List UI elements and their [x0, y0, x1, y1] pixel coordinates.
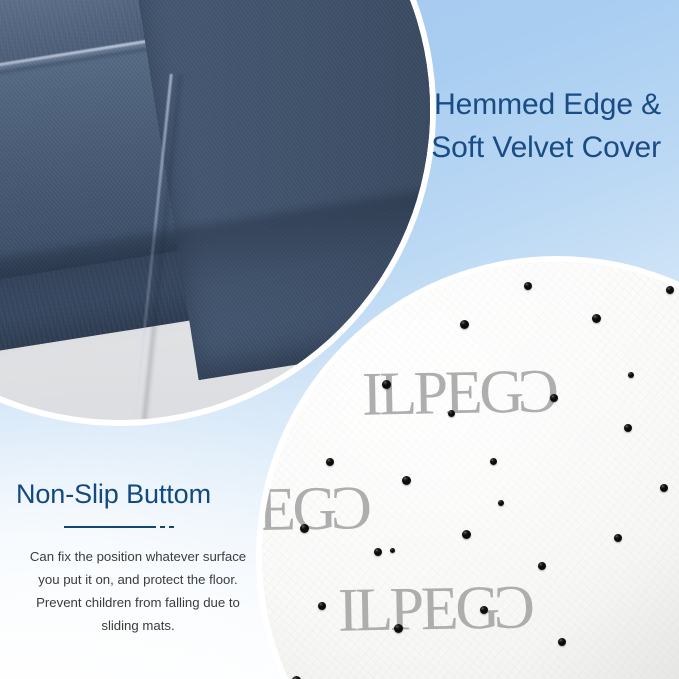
brand-watermark-top: ILPEGC — [361, 356, 559, 430]
feature-block: Non-Slip Buttom Can fix the position wha… — [12, 478, 264, 637]
anti-slip-dot — [660, 484, 668, 492]
anti-slip-dot — [460, 320, 469, 329]
infographic-canvas: ILPEGC EGC ILPEGC Hemmed Edge & Soft Vel… — [0, 0, 679, 679]
anti-slip-dot — [402, 476, 411, 485]
anti-slip-dot — [498, 500, 504, 506]
feature-body-line: Can fix the position whatever surface — [18, 546, 258, 569]
anti-slip-dot — [326, 458, 334, 466]
feature-title: Non-Slip Buttom — [12, 478, 264, 510]
anti-slip-dot — [390, 548, 395, 553]
anti-slip-dot — [628, 372, 634, 378]
feature-body-line: sliding mats. — [18, 615, 258, 638]
mat-photo-circle: ILPEGC EGC ILPEGC — [262, 262, 679, 679]
feature-body-line: you put it on, and protect the floor. — [18, 569, 258, 592]
mat-photo: ILPEGC EGC ILPEGC — [262, 262, 679, 679]
divider-rule — [64, 526, 156, 528]
anti-slip-dot — [666, 286, 674, 294]
anti-slip-dot — [480, 606, 488, 614]
anti-slip-dot — [524, 282, 532, 290]
headline-line-1: Hemmed Edge & — [431, 84, 661, 127]
divider-tick-2 — [169, 526, 174, 528]
brand-watermark-bottom: ILPEGC — [337, 572, 535, 646]
feature-body-line: Prevent children from falling due to — [18, 592, 258, 615]
feature-body: Can fix the position whatever surface yo… — [12, 546, 264, 637]
anti-slip-dot — [538, 562, 546, 570]
headline-line-2: Soft Velvet Cover — [431, 127, 661, 170]
divider-tick-1 — [160, 526, 165, 528]
anti-slip-dot — [550, 394, 558, 402]
anti-slip-dot — [490, 458, 497, 465]
feature-divider — [12, 526, 264, 528]
anti-slip-dot — [614, 534, 622, 542]
anti-slip-dot — [382, 380, 391, 389]
anti-slip-dot — [592, 314, 601, 323]
anti-slip-dot — [394, 624, 403, 633]
anti-slip-dot — [318, 602, 326, 610]
anti-slip-dot — [448, 410, 455, 417]
anti-slip-dot — [374, 548, 382, 556]
brand-watermark-middle: EGC — [262, 473, 372, 546]
anti-slip-dot — [300, 524, 309, 533]
anti-slip-dot — [462, 530, 471, 539]
headline: Hemmed Edge & Soft Velvet Cover — [431, 84, 661, 169]
anti-slip-dot — [558, 638, 566, 646]
anti-slip-dot — [624, 424, 632, 432]
